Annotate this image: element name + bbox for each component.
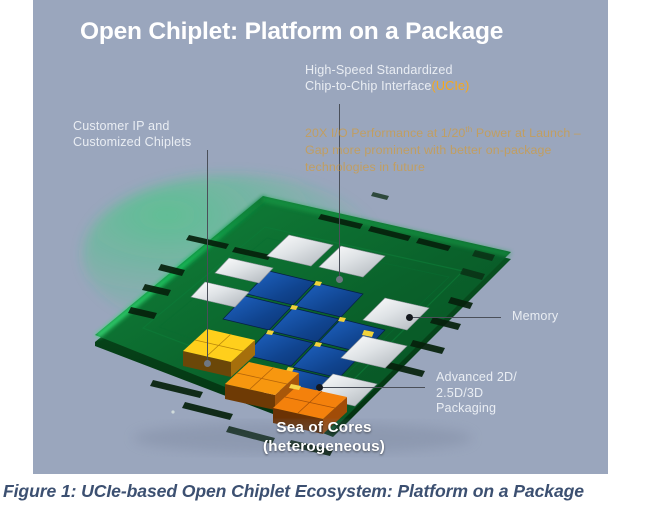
annotation-packaging-line1: Advanced 2D/ bbox=[436, 370, 586, 386]
annotation-packaging: Advanced 2D/ 2.5D/3D Packaging bbox=[436, 370, 586, 417]
leader-dot-memory bbox=[406, 314, 413, 321]
sea-of-cores-line2: (heterogeneous) bbox=[229, 437, 419, 456]
annotation-ucie-highlight: (UCIe) bbox=[432, 79, 470, 93]
annotation-memory-label: Memory bbox=[512, 309, 558, 325]
figure-container: Open Chiplet: Platform on a Package bbox=[0, 0, 647, 511]
leader-dot-packaging bbox=[316, 384, 323, 391]
annotation-packaging-line2: 2.5D/3D bbox=[436, 386, 586, 402]
annotation-ucie-line1: High-Speed Standardized bbox=[305, 63, 555, 79]
annotation-faded-note: 20X I/O Performance at 1/20th Power at L… bbox=[305, 121, 590, 176]
annotation-ucie-line2: Chip-to-Chip Interface bbox=[305, 79, 432, 93]
sea-of-cores-line1: Sea of Cores bbox=[229, 418, 419, 437]
leader-line-packaging bbox=[321, 387, 425, 388]
faded-note-part1: 20X I/O Performance at 1/20 bbox=[305, 126, 465, 140]
leader-line-customer-ip bbox=[207, 150, 208, 364]
annotation-ucie: High-Speed Standardized Chip-to-Chip Int… bbox=[305, 63, 555, 94]
annotation-memory: Memory bbox=[512, 309, 558, 325]
leader-dot-ucie bbox=[336, 276, 343, 283]
slide-title: Open Chiplet: Platform on a Package bbox=[80, 18, 580, 46]
annotation-customer-ip-line2: Customized Chiplets bbox=[73, 135, 253, 151]
sea-of-cores-label: Sea of Cores (heterogeneous) bbox=[229, 418, 419, 456]
annotation-packaging-line3: Packaging bbox=[436, 401, 586, 417]
leader-line-memory bbox=[411, 317, 501, 318]
annotation-ucie-line2-wrap: Chip-to-Chip Interface(UCIe) bbox=[305, 79, 555, 95]
leader-dot-customer-ip bbox=[204, 360, 211, 367]
annotation-customer-ip-line1: Customer IP and bbox=[73, 119, 253, 135]
annotation-customer-ip: Customer IP and Customized Chiplets bbox=[73, 119, 253, 150]
slide-panel: Open Chiplet: Platform on a Package bbox=[33, 0, 608, 474]
figure-caption: Figure 1: UCIe-based Open Chiplet Ecosys… bbox=[3, 481, 644, 502]
